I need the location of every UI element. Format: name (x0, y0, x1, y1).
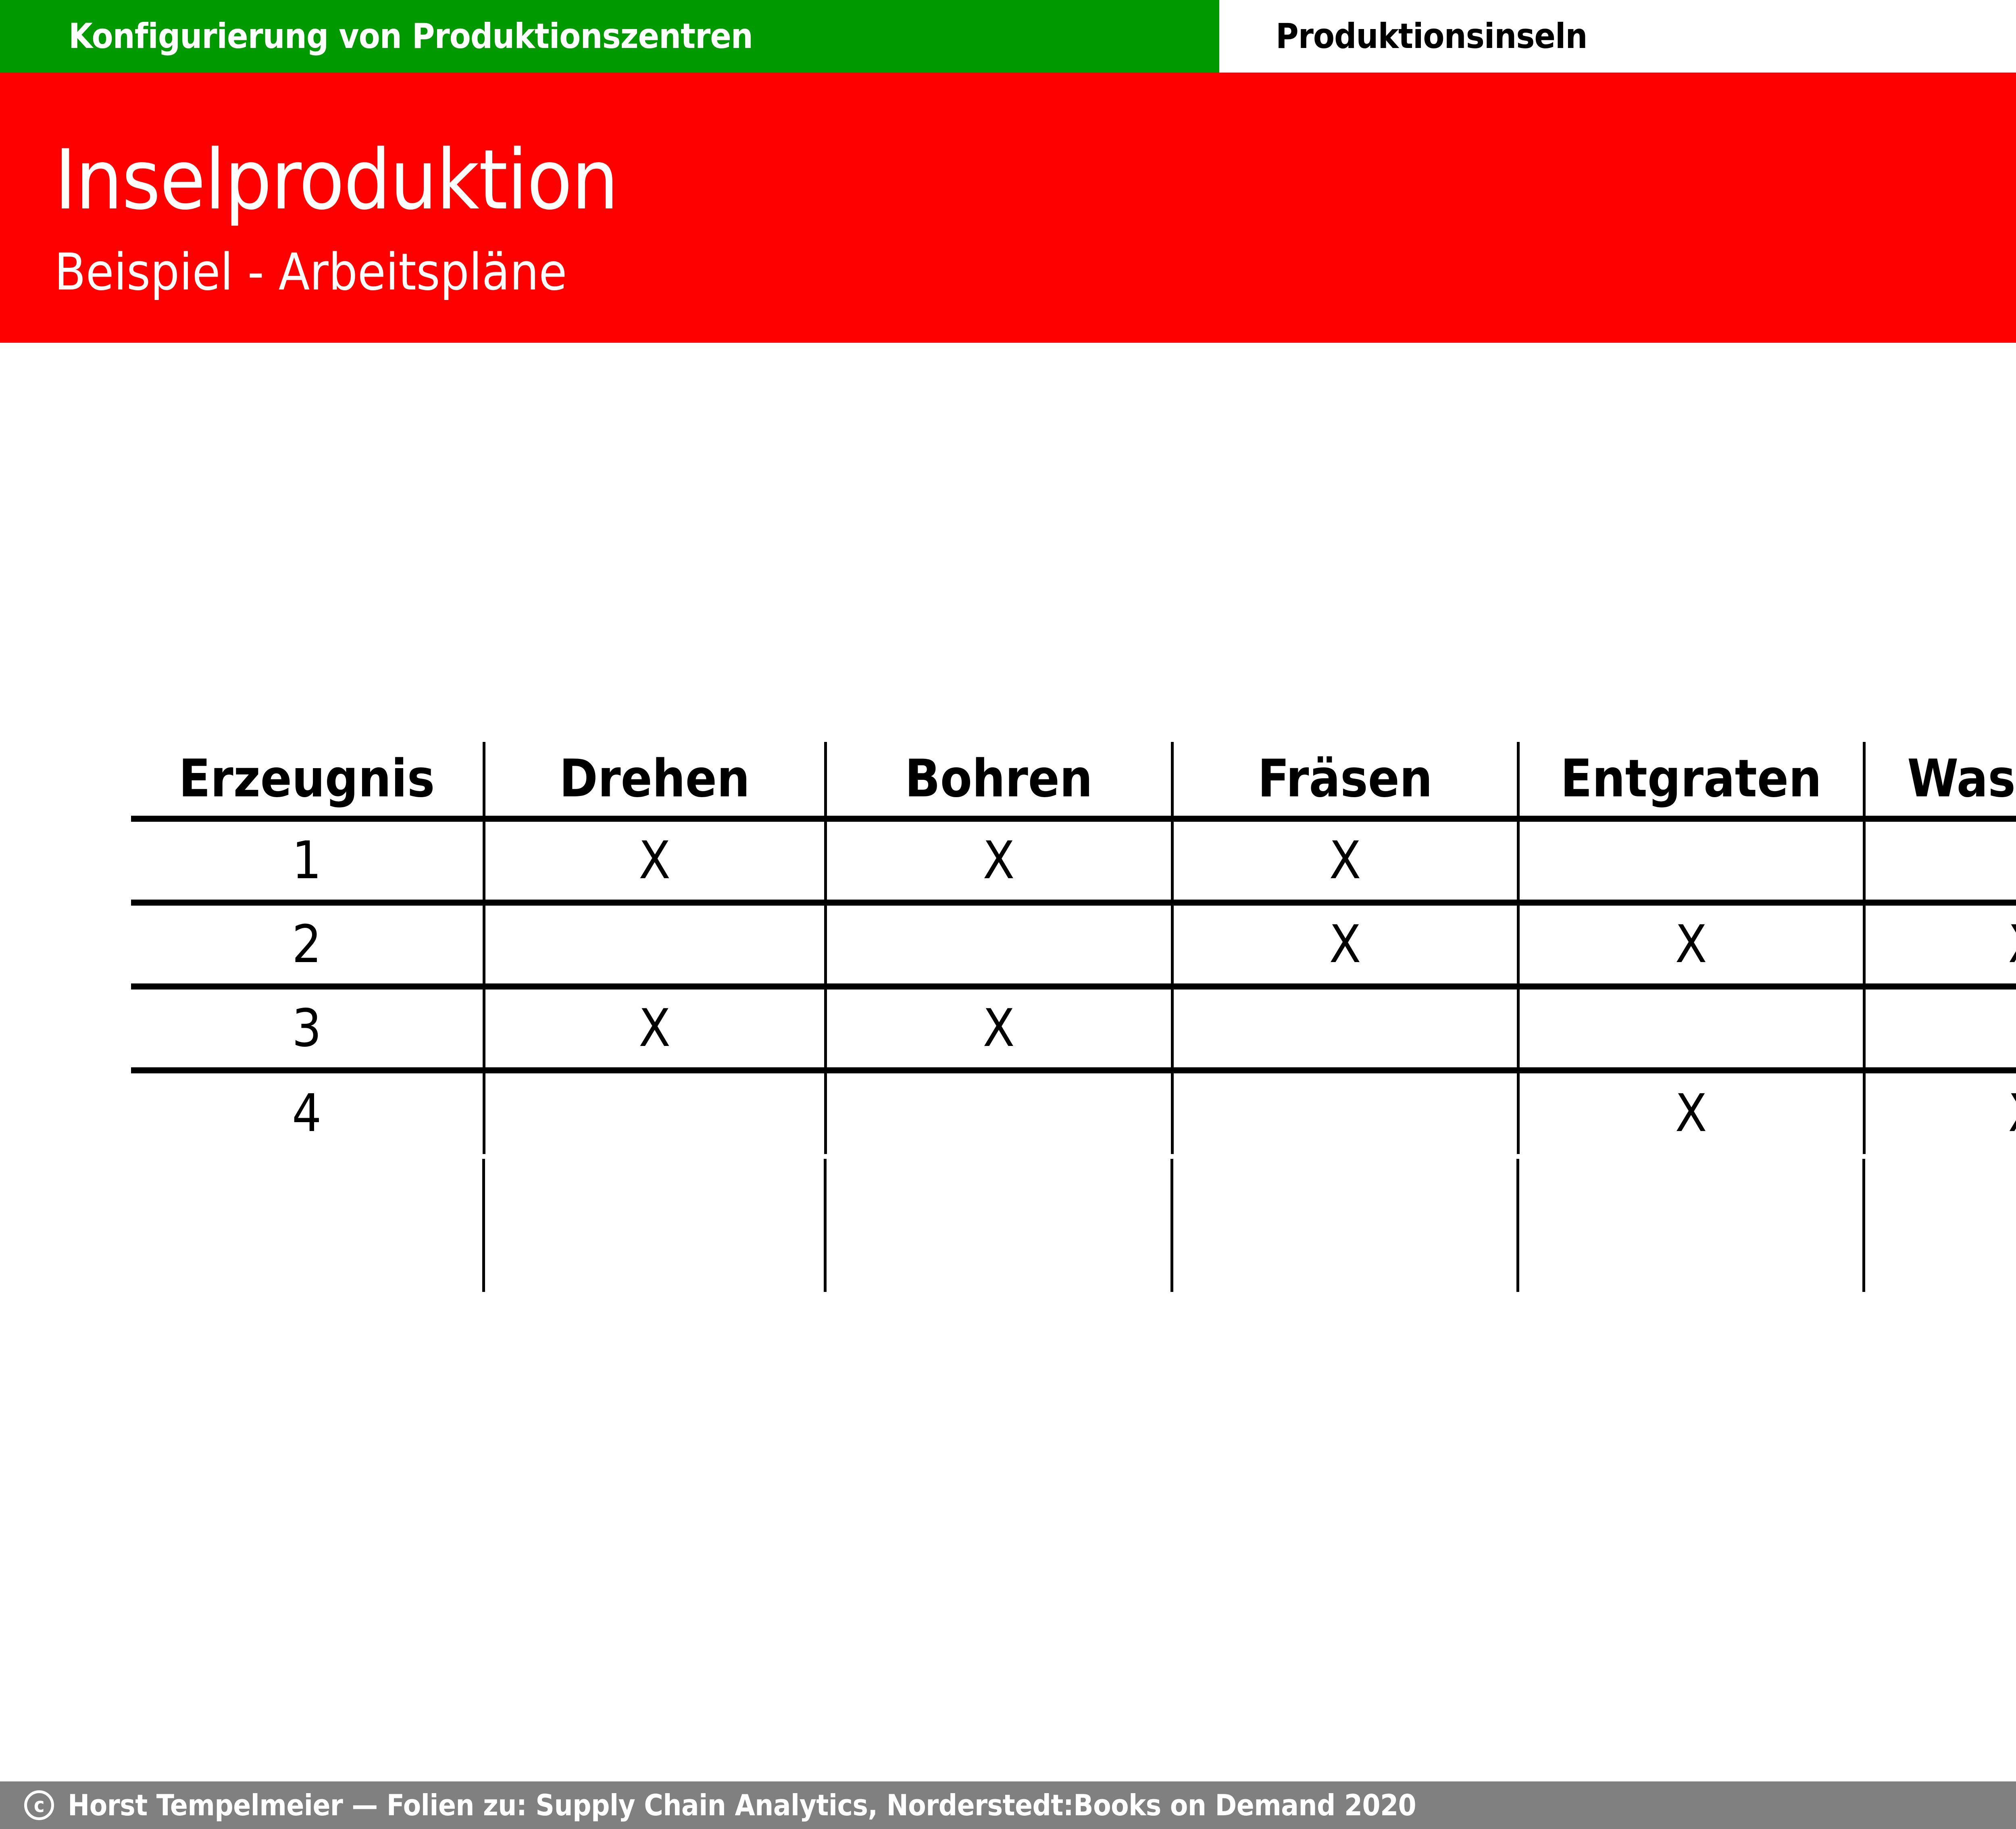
table-row: 2 X X X (131, 902, 2016, 986)
cell-fraesen (1172, 1070, 1518, 1154)
cell-bohren: X (825, 819, 1172, 902)
slide-footer: c Horst Tempelmeier — Folien zu: Supply … (0, 1781, 2016, 1829)
cell-bohren: X (825, 986, 1172, 1070)
cell-product-id: 1 (131, 819, 484, 902)
cell-entgraten: X (1518, 1070, 1864, 1154)
table-head: Erzeugnis Drehen Bohren Fräsen Entgraten… (131, 742, 2016, 819)
table-row: 4 X X (131, 1070, 2016, 1154)
cell-fraesen: X (1172, 819, 1518, 902)
cell-waschen (1864, 986, 2016, 1070)
cell-product-id: 2 (131, 902, 484, 986)
vertical-rule (824, 1159, 827, 1292)
column-header-erzeugnis: Erzeugnis (131, 742, 484, 819)
page-subtitle: Beispiel - Arbeitspläne (54, 247, 567, 298)
cell-waschen: X (1864, 1070, 2016, 1154)
cell-drehen (484, 902, 825, 986)
table-body: 1 X X X 2 X X X 3 X (131, 819, 2016, 1154)
cell-fraesen (1172, 986, 1518, 1070)
slide-root: Konfigurierung von Produktionszentren Pr… (0, 0, 2016, 1829)
cell-drehen: X (484, 986, 825, 1070)
table-vertical-rule-tails (131, 1159, 2016, 1292)
copyright-icon: c (24, 1790, 54, 1820)
title-band: Inselproduktion Beispiel - Arbeitspläne (0, 73, 2016, 343)
column-header-bohren: Bohren (825, 742, 1172, 819)
vertical-rule (1862, 1159, 1865, 1292)
vertical-rule (1170, 1159, 1173, 1292)
cell-drehen (484, 1070, 825, 1154)
table-header-row: Erzeugnis Drehen Bohren Fräsen Entgraten… (131, 742, 2016, 819)
column-header-drehen: Drehen (484, 742, 825, 819)
column-header-entgraten: Entgraten (1518, 742, 1864, 819)
cell-waschen (1864, 819, 2016, 902)
nav-tab-label: Konfigurierung von Produktionszentren (69, 16, 753, 56)
nav-tab-label: Produktionsinseln (1276, 16, 1587, 56)
column-header-fraesen: Fräsen (1172, 742, 1518, 819)
footer-credit-group: c Horst Tempelmeier — Folien zu: Supply … (0, 1788, 1416, 1822)
table-row: 3 X X (131, 986, 2016, 1070)
cell-waschen: X (1864, 902, 2016, 986)
cell-fraesen: X (1172, 902, 1518, 986)
footer-credit-text: Horst Tempelmeier — Folien zu: Supply Ch… (68, 1788, 1416, 1822)
nav-tab-produktionsinseln[interactable]: Produktionsinseln (1219, 0, 2016, 73)
cell-product-id: 3 (131, 986, 484, 1070)
nav-tab-konfigurierung-von-produktionszentren[interactable]: Konfigurierung von Produktionszentren (0, 0, 1219, 73)
vertical-rule (482, 1159, 485, 1292)
cell-product-id: 4 (131, 1070, 484, 1154)
page-title: Inselproduktion (54, 139, 618, 222)
cell-drehen: X (484, 819, 825, 902)
cell-entgraten (1518, 986, 1864, 1070)
column-header-waschen: Waschen (1864, 742, 2016, 819)
table-row: 1 X X X (131, 819, 2016, 902)
cell-entgraten: X (1518, 902, 1864, 986)
routing-plan-table: Erzeugnis Drehen Bohren Fräsen Entgraten… (131, 742, 2016, 1154)
cell-entgraten (1518, 819, 1864, 902)
cell-bohren (825, 1070, 1172, 1154)
section-navbar: Konfigurierung von Produktionszentren Pr… (0, 0, 2016, 73)
vertical-rule (1516, 1159, 1519, 1292)
cell-bohren (825, 902, 1172, 986)
slide-body: Erzeugnis Drehen Bohren Fräsen Entgraten… (0, 343, 2016, 1766)
